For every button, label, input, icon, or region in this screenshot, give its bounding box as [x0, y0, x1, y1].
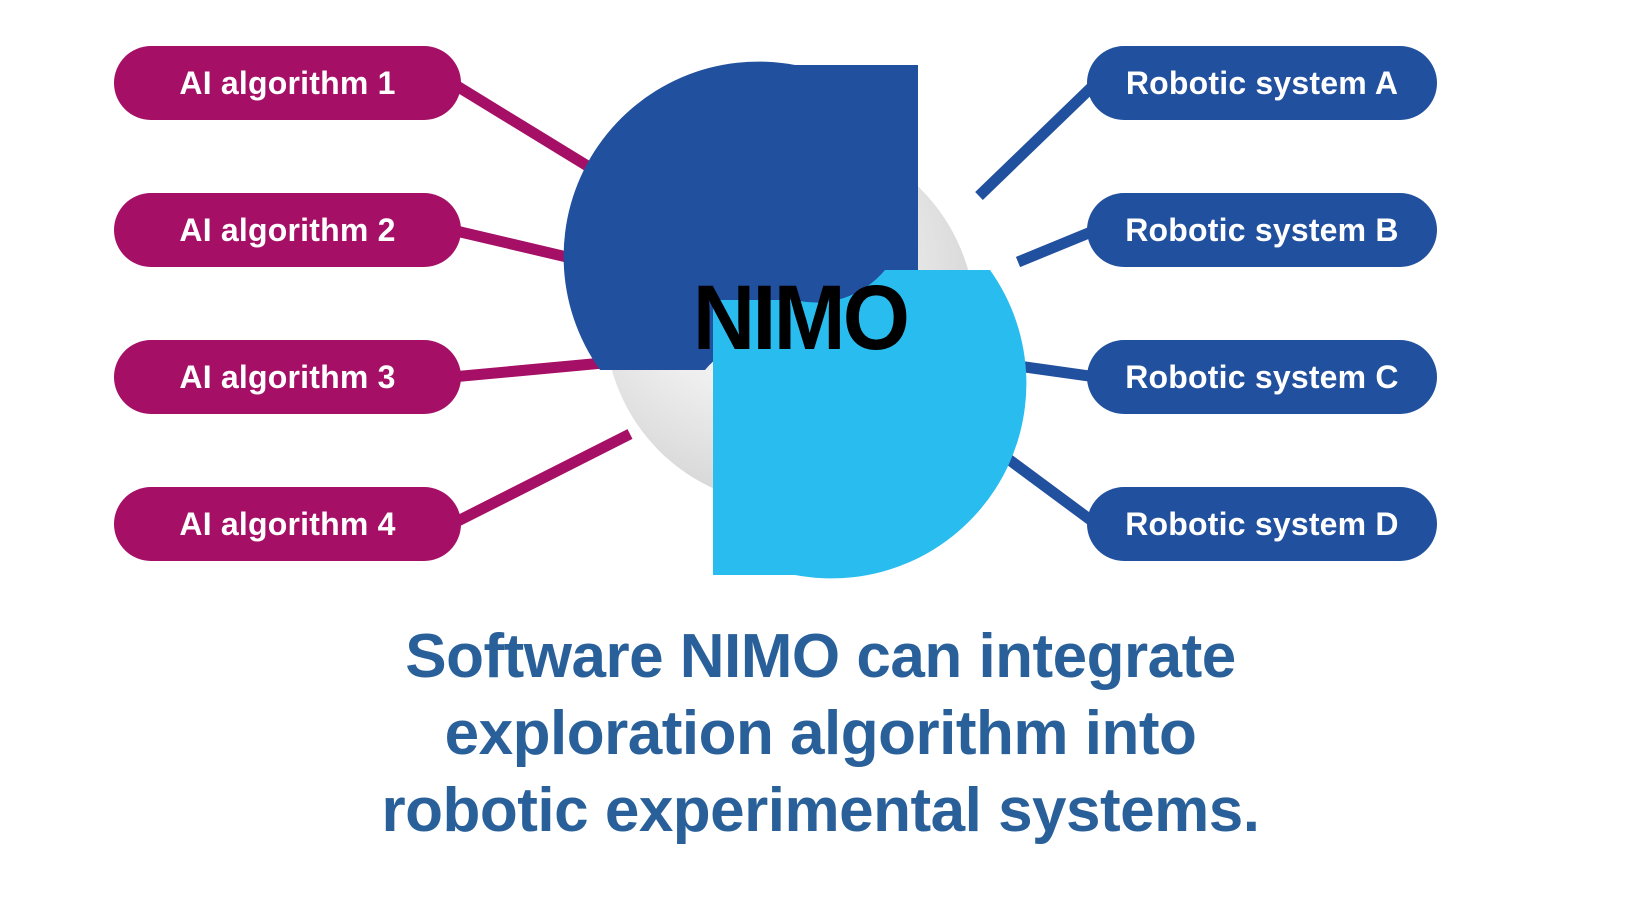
caption-line-1: Software NIMO can integrate	[0, 618, 1641, 695]
node-ai-algorithm-3[interactable]: AI algorithm 3	[114, 340, 461, 414]
node-robotic-system-d[interactable]: Robotic system D	[1087, 487, 1437, 561]
node-label: Robotic system C	[1125, 359, 1398, 396]
logo-wordmark: NIMO	[631, 272, 969, 364]
node-ai-algorithm-4[interactable]: AI algorithm 4	[114, 487, 461, 561]
node-robotic-system-a[interactable]: Robotic system A	[1087, 46, 1437, 120]
node-robotic-system-b[interactable]: Robotic system B	[1087, 193, 1437, 267]
node-label: Robotic system B	[1125, 212, 1398, 249]
node-label: Robotic system D	[1125, 506, 1398, 543]
diagram-caption: Software NIMO can integrate exploration …	[0, 618, 1641, 849]
node-label: AI algorithm 4	[179, 506, 395, 543]
node-label: AI algorithm 3	[179, 359, 395, 396]
node-label: AI algorithm 2	[179, 212, 395, 249]
caption-line-3: robotic experimental systems.	[0, 772, 1641, 849]
diagram-canvas: NIMO AI algorithm 1 AI algorithm 2 AI al…	[0, 0, 1641, 924]
node-ai-algorithm-2[interactable]: AI algorithm 2	[114, 193, 461, 267]
node-ai-algorithm-1[interactable]: AI algorithm 1	[114, 46, 461, 120]
caption-line-2: exploration algorithm into	[0, 695, 1641, 772]
node-label: AI algorithm 1	[179, 65, 395, 102]
nimo-swirl-logo: NIMO	[560, 40, 1030, 580]
node-label: Robotic system A	[1126, 65, 1398, 102]
node-robotic-system-c[interactable]: Robotic system C	[1087, 340, 1437, 414]
